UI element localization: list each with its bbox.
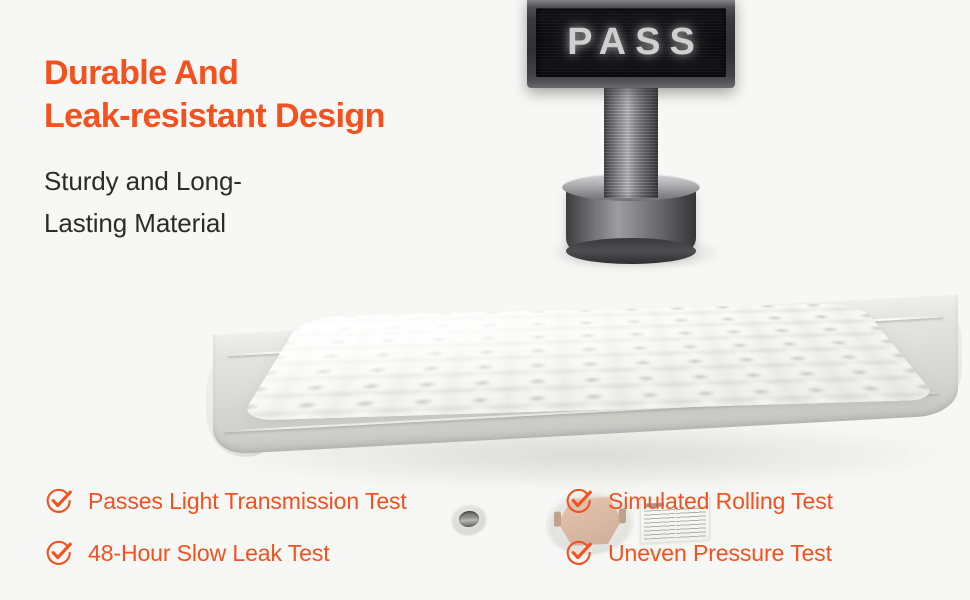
pass-status-text: PASS xyxy=(558,21,704,64)
feature-checklist: Passes Light Transmission Test 48-Hour S… xyxy=(0,486,970,586)
press-foot-bottom-face xyxy=(566,238,696,264)
display-bezel-highlight xyxy=(527,0,735,7)
check-circle-icon xyxy=(44,538,74,568)
check-circle-icon xyxy=(44,486,74,516)
feature-item-0: Passes Light Transmission Test xyxy=(44,486,407,516)
check-circle-icon xyxy=(564,538,594,568)
pressure-test-machine: PASS xyxy=(0,0,970,260)
display-screen: PASS xyxy=(536,8,726,77)
feature-label: 48-Hour Slow Leak Test xyxy=(88,538,330,568)
feature-label: Passes Light Transmission Test xyxy=(88,486,407,516)
feature-label: Uneven Pressure Test xyxy=(608,538,832,568)
feature-label: Simulated Rolling Test xyxy=(608,486,833,516)
feature-item-2: Simulated Rolling Test xyxy=(564,486,833,516)
feature-item-3: Uneven Pressure Test xyxy=(564,538,832,568)
feature-item-1: 48-Hour Slow Leak Test xyxy=(44,538,330,568)
press-shaft xyxy=(604,86,658,198)
test-result-display: PASS xyxy=(527,0,735,88)
promo-banner: Durable And Leak-resistant Design Sturdy… xyxy=(0,0,970,600)
check-circle-icon xyxy=(564,486,594,516)
